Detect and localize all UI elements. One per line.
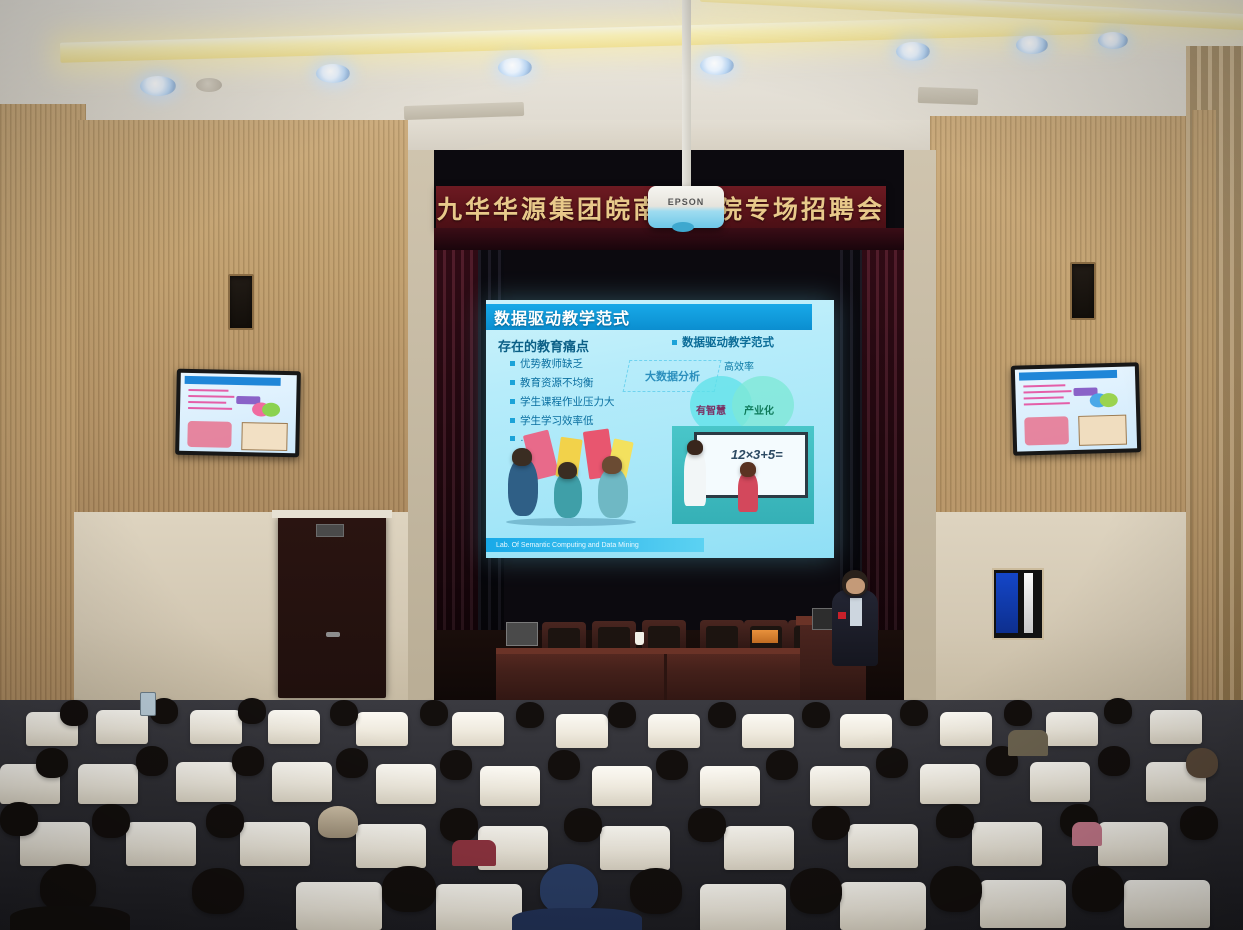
monitor-right-screen <box>1015 366 1137 451</box>
audience-head <box>1180 806 1218 840</box>
downlight-5 <box>896 42 930 61</box>
audience-row <box>0 744 1243 804</box>
bullet-square-icon <box>510 380 515 385</box>
monitor-left-cartoon <box>187 421 232 448</box>
audience-head-cap <box>318 806 358 838</box>
audience-head <box>40 864 96 912</box>
seat-cover <box>272 762 332 802</box>
audience-jacket-olive <box>1008 730 1048 756</box>
audience-head <box>206 804 244 838</box>
door-handle[interactable] <box>326 632 340 637</box>
downlight-3 <box>498 58 532 77</box>
slide-title-text: 数据驱动教学范式 <box>494 305 630 329</box>
audience-head <box>92 804 130 838</box>
audience-row <box>0 694 1243 750</box>
audience-head <box>60 700 88 726</box>
downlight-6 <box>1016 36 1048 54</box>
teacher-figure <box>684 448 706 506</box>
seat-cover <box>556 714 608 748</box>
audience-head <box>564 808 602 842</box>
audience-head <box>382 866 436 912</box>
audience-jacket-red <box>452 840 496 866</box>
audience-head <box>0 802 38 836</box>
slide-footer: Lab. Of Semantic Computing and Data Mini… <box>486 538 704 552</box>
seat-cover <box>78 764 138 804</box>
monitor-right-line <box>1023 390 1071 393</box>
monitor-left-line <box>188 401 226 404</box>
seat-cover <box>356 712 408 746</box>
seat-cover <box>376 764 436 804</box>
wall-control-panel[interactable] <box>992 568 1044 640</box>
monitor-right-line <box>1024 396 1064 399</box>
door-transom-sign <box>316 524 344 537</box>
bullet-square-icon <box>510 399 515 404</box>
bullet-square-icon <box>672 340 677 345</box>
audience-head <box>136 746 168 776</box>
list-item: 学生学习效率低 <box>510 413 670 428</box>
student-figure-1 <box>508 458 538 516</box>
wall-proscenium-left <box>408 150 434 710</box>
seat-cover <box>920 764 980 804</box>
whiteboard-text: 12×3+5= <box>731 447 783 462</box>
audience-head <box>330 700 358 726</box>
audience-head <box>790 868 842 914</box>
projector-lens <box>672 222 694 232</box>
wall-speaker-right <box>1070 262 1096 320</box>
seat-cover <box>840 882 926 930</box>
seat-cover <box>1124 880 1210 928</box>
ceiling-vent-1 <box>196 78 222 92</box>
slide-left-heading: 存在的教育痛点 <box>498 336 589 355</box>
downlight-1 <box>140 76 176 96</box>
audience-jacket-pink <box>1072 822 1102 846</box>
ceiling-duct-slot-2 <box>918 87 979 105</box>
audience-head <box>802 702 830 728</box>
projection-screen: 数据驱动教学范式 存在的教育痛点 优势教师缺乏 教育资源不均衡 学生课程作业压力… <box>486 300 834 558</box>
audience-head <box>540 864 598 914</box>
monitor-right-classroom <box>1078 415 1127 446</box>
auditorium-photo: 九华华源集团皖南医学院专场招聘会 数据驱动教学范式 存在的教育痛点 优势教师缺乏… <box>0 0 1243 930</box>
seat-cover <box>742 714 794 748</box>
downlight-7 <box>1098 32 1128 49</box>
audience-shoulders <box>10 906 130 930</box>
student-figure-3 <box>598 468 628 518</box>
stage-chair-pad <box>648 626 680 650</box>
seat-cover <box>648 714 700 748</box>
audience-head <box>930 866 982 912</box>
monitor-left-line <box>188 389 228 392</box>
door-frame-top <box>272 510 392 518</box>
raised-phone <box>140 692 156 716</box>
audience-head <box>608 702 636 728</box>
wall-speaker-left <box>228 274 254 330</box>
seat-cover <box>1098 822 1168 866</box>
seat-cover <box>452 712 504 746</box>
audience-head <box>656 750 688 780</box>
monitor-left-title-bar <box>185 376 281 386</box>
audience-head <box>1072 866 1124 912</box>
monitor-right <box>1011 362 1141 456</box>
control-panel-strip <box>1024 573 1033 633</box>
audience-row <box>0 800 1243 866</box>
seat-cover <box>126 822 196 866</box>
audience-head <box>440 750 472 780</box>
bullet-text: 优势教师缺乏 <box>520 356 583 371</box>
audience-shoulders <box>512 908 642 930</box>
bullet-text: 学生课程作业压力大 <box>520 394 615 409</box>
seat-cover <box>1150 710 1202 744</box>
monitor-left-screen <box>179 373 297 453</box>
monitor-left <box>175 369 301 458</box>
audience-head <box>630 868 682 914</box>
stage-chair-pad <box>706 626 738 650</box>
monitor-left-venn <box>262 403 280 417</box>
monitor-right-title-bar <box>1019 370 1117 381</box>
audience-head <box>936 804 974 838</box>
audience-head <box>876 748 908 778</box>
monitor-right-line <box>1024 402 1070 405</box>
audience-head <box>36 748 68 778</box>
venn-right-label: 产业化 <box>744 402 774 417</box>
audience-head <box>420 700 448 726</box>
seat-cover <box>940 712 992 746</box>
audience-head <box>1186 748 1218 778</box>
audience-head <box>766 750 798 780</box>
audience-row <box>0 862 1243 930</box>
venn-left-label: 有智慧 <box>696 402 726 417</box>
cartoon-students-with-books <box>502 428 652 528</box>
bullet-text: 学生学习效率低 <box>520 413 594 428</box>
seat-cover <box>240 822 310 866</box>
seat-cover <box>190 710 242 744</box>
student-head-3 <box>602 456 622 474</box>
audience-head <box>812 806 850 840</box>
bullet-square-icon <box>510 418 515 423</box>
seat-cover <box>840 714 892 748</box>
audience-head <box>688 808 726 842</box>
slide-footer-text: Lab. Of Semantic Computing and Data Mini… <box>496 542 639 549</box>
audience-head <box>238 698 266 724</box>
audience-head <box>708 702 736 728</box>
student-head-2 <box>558 462 577 479</box>
bullet-text: 教育资源不均衡 <box>520 375 594 390</box>
door-left[interactable] <box>278 516 386 698</box>
projector-pole <box>682 0 691 186</box>
monitor-left-line <box>188 395 234 398</box>
audience-head <box>192 868 244 914</box>
seat-cover <box>1046 712 1098 746</box>
audience-head <box>1104 698 1132 724</box>
pupil-head <box>740 462 756 477</box>
seat-cover <box>436 884 522 930</box>
monitor-right-venn <box>1100 393 1118 407</box>
slide-right-heading-text: 数据驱动教学范式 <box>682 334 774 350</box>
seat-cover <box>972 822 1042 866</box>
speaker-face <box>846 578 865 594</box>
speaker-shirt <box>850 598 862 626</box>
seat-cover <box>268 710 320 744</box>
seat-cover <box>700 884 786 930</box>
audience-head <box>900 700 928 726</box>
downlight-2 <box>316 64 350 83</box>
wall-right-lower <box>930 512 1230 722</box>
audience-head <box>516 702 544 728</box>
seat-cover <box>1030 762 1090 802</box>
pupil-figure <box>738 472 758 512</box>
monitor-left-line <box>188 407 232 410</box>
wall-far-right <box>1192 110 1216 710</box>
monitor-right-line <box>1023 384 1065 387</box>
wall-proscenium-right <box>902 150 936 710</box>
downlight-4 <box>700 56 734 75</box>
audience-head <box>1004 700 1032 726</box>
control-panel-display <box>996 573 1018 633</box>
classroom-scene: 12×3+5= <box>672 426 814 524</box>
table-name-card <box>752 630 778 643</box>
cartoon-shadow <box>506 518 636 526</box>
seat-cover <box>980 880 1066 928</box>
seat-cover <box>296 882 382 930</box>
audience-head <box>336 748 368 778</box>
audience-head <box>548 750 580 780</box>
projector-brand-label: EPSON <box>668 197 705 207</box>
student-head-1 <box>512 448 532 466</box>
table-laptop <box>506 622 538 646</box>
speaker-badge <box>838 612 846 619</box>
slide-title-bar: 数据驱动教学范式 <box>486 304 812 330</box>
stage-valance <box>434 228 904 250</box>
seat-cover <box>176 762 236 802</box>
list-item: 学生课程作业压力大 <box>510 394 670 409</box>
slide-right-heading: 数据驱动教学范式 <box>672 334 774 350</box>
venn-top-label: 高效率 <box>724 358 754 373</box>
bullet-square-icon <box>510 361 515 366</box>
monitor-right-cartoon <box>1024 416 1069 445</box>
audience-head <box>1098 746 1130 776</box>
audience-head <box>440 808 478 842</box>
monitor-left-classroom <box>241 422 288 451</box>
audience-head <box>232 746 264 776</box>
table-paper-cup <box>635 632 644 645</box>
teacher-head <box>687 440 703 455</box>
